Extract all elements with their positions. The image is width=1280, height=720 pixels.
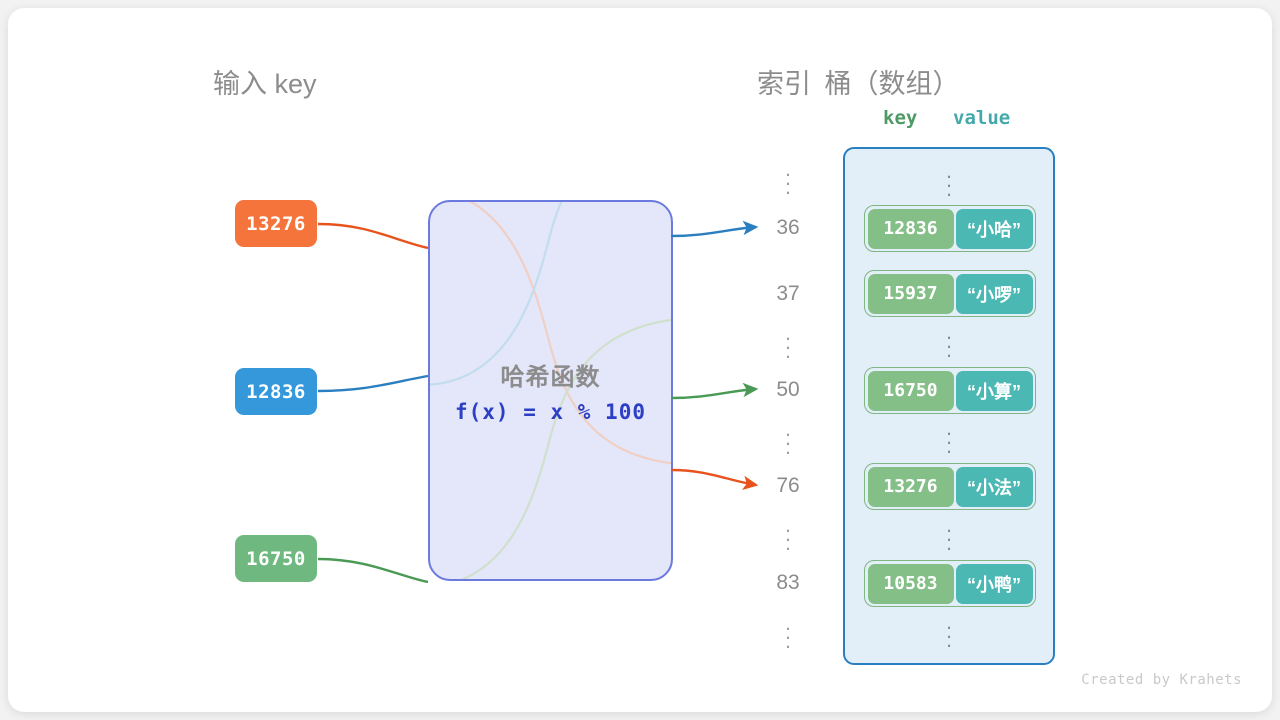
bucket-entry[interactable]: 15937 “小啰” (864, 270, 1036, 317)
diagram-canvas: 输入 key 索引 桶（数组） key value 13276 12836 16… (0, 0, 1280, 720)
index-value: 36 (766, 216, 810, 240)
bucket-entry-value: “小啰” (956, 274, 1033, 314)
bucket-entry-key: 12836 (868, 209, 954, 249)
input-key-box[interactable]: 13276 (235, 200, 317, 247)
hash-function-box: 哈希函数 f(x) = x % 100 (428, 200, 673, 581)
index-dots: ... (766, 330, 810, 364)
bucket-array: ... 12836 “小哈” 15937 “小啰” ... 16750 “小算”… (843, 147, 1055, 665)
footer-credit: Created by Krahets (1081, 672, 1242, 688)
index-value: 37 (766, 282, 810, 306)
diagram-card: 输入 key 索引 桶（数组） key value 13276 12836 16… (8, 8, 1272, 712)
input-key-box[interactable]: 16750 (235, 535, 317, 582)
bucket-entry-value: “小鸭” (956, 564, 1033, 604)
bucket-dots: ... (845, 425, 1053, 451)
index-value: 50 (766, 378, 810, 402)
bucket-entry-key: 13276 (868, 467, 954, 507)
bucket-dots: ... (845, 619, 1053, 645)
bucket-entry[interactable]: 13276 “小法” (864, 463, 1036, 510)
index-value: 83 (766, 571, 810, 595)
bucket-entry-value: “小哈” (956, 209, 1033, 249)
bucket-entry[interactable]: 16750 “小算” (864, 367, 1036, 414)
bucket-entry[interactable]: 10583 “小鸭” (864, 560, 1036, 607)
bucket-dots: ... (845, 522, 1053, 548)
bucket-entry-key: 16750 (868, 371, 954, 411)
bucket-dots: ... (845, 168, 1053, 194)
index-dots: ... (766, 522, 810, 556)
index-dots: ... (766, 620, 810, 654)
column-heading-input: 输入 key (213, 62, 317, 101)
hash-function-formula: f(x) = x % 100 (430, 400, 671, 424)
vertical-dots-icon: ... (785, 330, 791, 356)
bucket-dots: ... (845, 329, 1053, 355)
bucket-subheading-key: key (883, 107, 917, 129)
vertical-dots-icon: ... (785, 426, 791, 452)
vertical-dots-icon: ... (785, 620, 791, 646)
vertical-dots-icon: ... (785, 522, 791, 548)
column-heading-index: 索引 (757, 62, 811, 101)
bucket-entry-key: 15937 (868, 274, 954, 314)
column-heading-bucket: 桶（数组） (825, 62, 960, 101)
bucket-entry-value: “小算” (956, 371, 1033, 411)
index-value: 76 (766, 474, 810, 498)
input-key-box[interactable]: 12836 (235, 368, 317, 415)
bucket-entry-value: “小法” (956, 467, 1033, 507)
bucket-entry[interactable]: 12836 “小哈” (864, 205, 1036, 252)
vertical-dots-icon: ... (785, 166, 791, 192)
index-dots: ... (766, 426, 810, 460)
index-dots: ... (766, 166, 810, 200)
bucket-entry-key: 10583 (868, 564, 954, 604)
hash-function-title: 哈希函数 (430, 357, 671, 392)
bucket-subheading-value: value (953, 107, 1010, 129)
